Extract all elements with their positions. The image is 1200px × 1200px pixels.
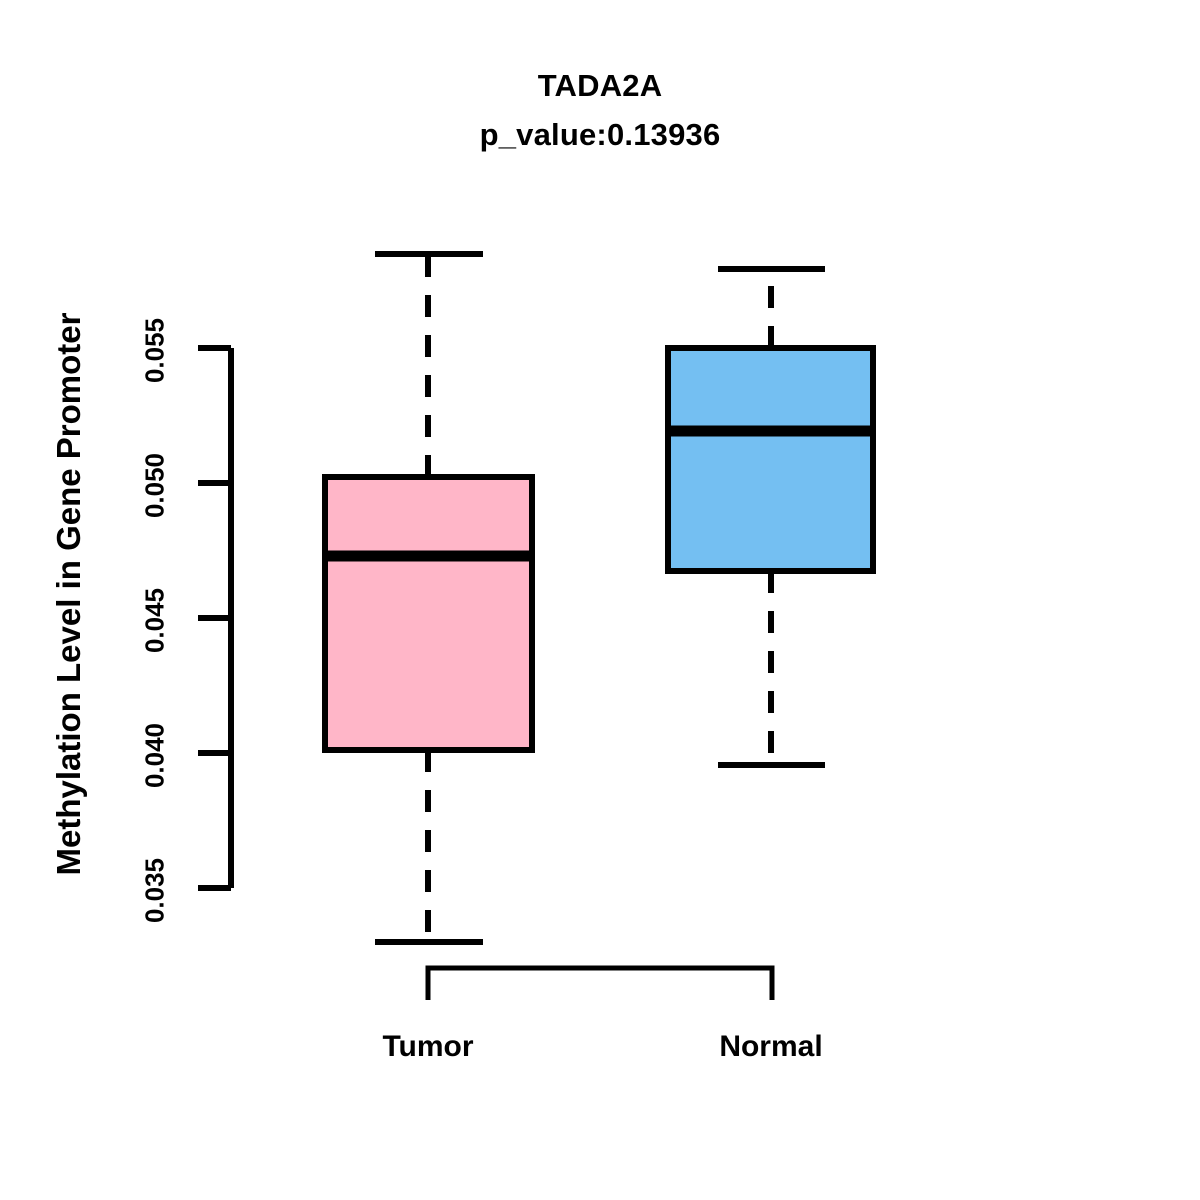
y-axis xyxy=(198,348,231,888)
x-axis-bracket xyxy=(428,968,772,1000)
normal-box-iqr[interactable] xyxy=(668,348,873,571)
boxplot-figure: TADA2A p_value:0.13936 Methylation Level… xyxy=(0,0,1200,1200)
box-normal[interactable] xyxy=(665,269,876,765)
plot-canvas xyxy=(0,0,1200,1200)
box-tumor[interactable] xyxy=(322,254,535,942)
x-axis xyxy=(428,968,772,1000)
tumor-box-iqr[interactable] xyxy=(325,477,532,750)
